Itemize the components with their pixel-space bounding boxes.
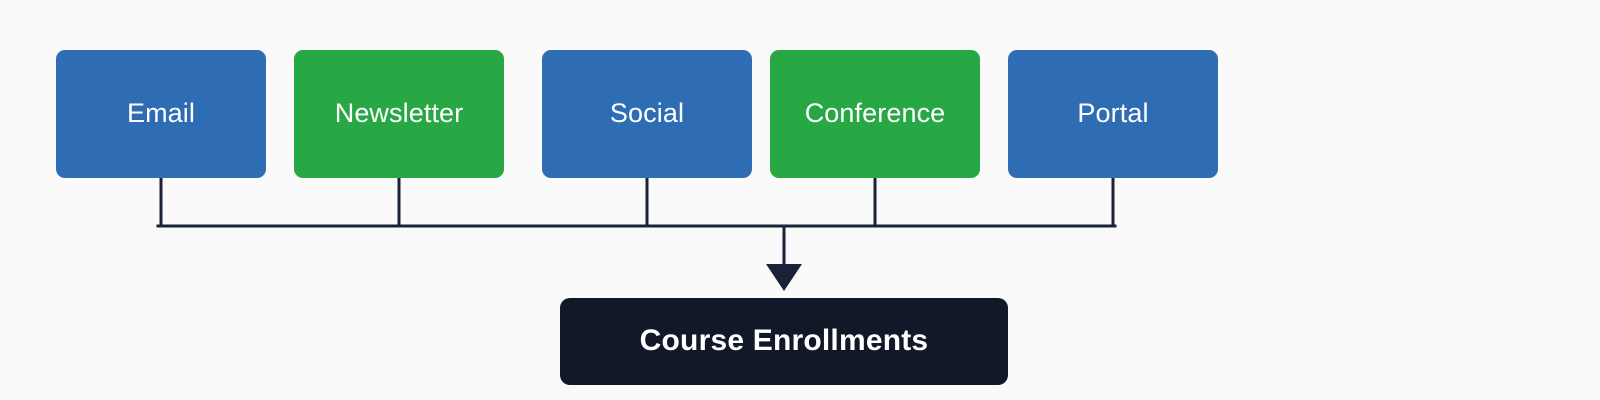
node-email[interactable]: Email bbox=[56, 50, 266, 178]
node-newsletter[interactable]: Newsletter bbox=[294, 50, 504, 178]
node-conference[interactable]: Conference bbox=[770, 50, 980, 178]
node-course-enrollments-label: Course Enrollments bbox=[640, 324, 929, 359]
node-social-label: Social bbox=[610, 98, 684, 129]
node-social[interactable]: Social bbox=[542, 50, 752, 178]
node-newsletter-label: Newsletter bbox=[335, 98, 464, 129]
node-course-enrollments[interactable]: Course Enrollments bbox=[560, 298, 1008, 385]
arrow-head-icon bbox=[766, 264, 802, 291]
node-portal-label: Portal bbox=[1077, 98, 1148, 129]
node-conference-label: Conference bbox=[805, 98, 946, 129]
flowchart-canvas: Email Newsletter Social Conference Porta… bbox=[0, 0, 1600, 400]
node-portal[interactable]: Portal bbox=[1008, 50, 1218, 178]
node-email-label: Email bbox=[127, 98, 195, 129]
